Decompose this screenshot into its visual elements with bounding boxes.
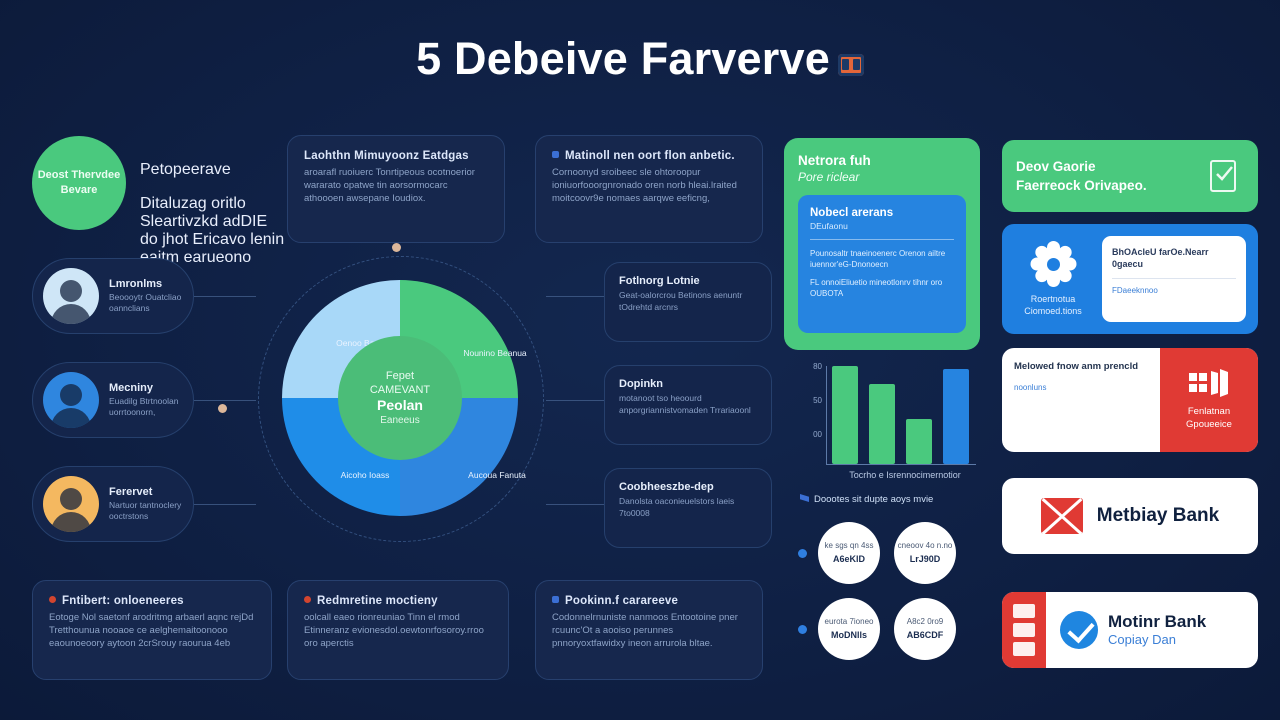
y-axis-tick-1: 50 bbox=[790, 396, 822, 405]
stat-badge[interactable]: cneoov 4o n.no LrJ90D bbox=[894, 522, 956, 584]
x-axis bbox=[826, 464, 976, 465]
stat-badge[interactable]: ke sgs qn 4ss A6eKlD bbox=[818, 522, 880, 584]
footer-card-1-body: Eotoge Nol saetonf arodritmg arbaerl aqn… bbox=[49, 611, 255, 650]
footer-card-3-body: Codonnelrnuniste nanmoos Entootoine pner… bbox=[552, 611, 746, 650]
inner-card-sub: DEufaonu bbox=[810, 221, 954, 231]
bus-badge-icon bbox=[838, 54, 864, 76]
footer-card-2-body: oolcall eaeo rionreuniao Tinn el rmod Et… bbox=[304, 611, 492, 650]
stats-heading: Doootes sit dupte aoys mvie bbox=[800, 494, 933, 505]
stat-badge[interactable]: eurota 7ioneo MoDNlls bbox=[818, 598, 880, 660]
person-card[interactable]: Lmronlms Beoooytr Ouatcliao oannclians bbox=[32, 258, 194, 334]
bullet-icon bbox=[49, 596, 56, 603]
person-card-body: Euadilg Btrtnoolan uorrtoonorn, bbox=[109, 396, 193, 418]
stat-label: MoDNlls bbox=[831, 629, 867, 641]
feature-card-inset-link[interactable]: FDaeeknnoo bbox=[1112, 286, 1236, 295]
info-card-top-2[interactable]: Matinoll nen oort flon anbetic. Cornoony… bbox=[535, 135, 763, 243]
donut-center-line-1: Fepet bbox=[386, 369, 414, 383]
connector-line bbox=[546, 504, 606, 505]
blue-check-circle-icon bbox=[1060, 611, 1098, 649]
bullet-icon bbox=[552, 596, 559, 603]
badge-heading: Petopeerave bbox=[140, 161, 285, 179]
donut-quadrant-label-br: Aucoua Fanuta bbox=[462, 470, 532, 481]
red-list-strip-icon bbox=[1002, 592, 1046, 668]
donut-center-line-4: Eaneeus bbox=[380, 414, 419, 428]
feature-card-icon-label: Roertnotua Ciomoed.tions bbox=[1014, 293, 1092, 317]
stat-badge[interactable]: A8c2 0ro9 AB6CDF bbox=[894, 598, 956, 660]
footer-card-3-heading-text: Pookinn.f carareeve bbox=[565, 595, 678, 607]
footer-card-1-heading-text: Fntibert: onloeneeres bbox=[62, 595, 184, 607]
avatar-head-icon bbox=[60, 488, 82, 510]
feature-card-inset[interactable]: BhOAcleU farOe.Nearr 0gaecu FDaeeknnoo bbox=[1102, 236, 1246, 322]
connector-line bbox=[194, 296, 256, 297]
infographic-canvas: 5 Debeive Farverve Deost Thervdee Bevare… bbox=[0, 0, 1280, 720]
y-axis-tick-2: 00 bbox=[790, 430, 822, 439]
y-axis bbox=[826, 366, 827, 464]
person-card-heading: Lmronlms bbox=[109, 278, 193, 290]
footer-card-3-heading: Pookinn.f carareeve bbox=[552, 595, 746, 607]
info-card-top-1[interactable]: Laohthn Mimuyoonz Eatdgas aroarafl ruoiu… bbox=[287, 135, 505, 243]
promo-banner-line-1: Deov Gaorie bbox=[1016, 157, 1147, 176]
highlight-panel-inner-card[interactable]: Nobecl arerans DEufaonu Pounosaltr tnaei… bbox=[798, 195, 966, 333]
footer-card-1[interactable]: Fntibert: onloeneeres Eotoge Nol saetonf… bbox=[32, 580, 272, 680]
stats-bullet-icon bbox=[798, 625, 807, 634]
split-card-left: Melowed fnow anm prencld noonluns bbox=[1002, 348, 1160, 452]
promo-banner[interactable]: Deov Gaorie Faerreock Orivapeo. bbox=[1002, 140, 1258, 212]
bar-series bbox=[832, 366, 978, 464]
person-card-heading: Ferervet bbox=[109, 486, 193, 498]
promo-banner-line-2: Faerreock Orivapeo. bbox=[1016, 176, 1147, 195]
connector-node bbox=[218, 404, 227, 413]
detail-card-3-heading: Coobheeszbe-dep bbox=[619, 481, 757, 493]
info-card-top-1-body: aroarafl ruoiuerc Tonrtipeous ocotnoerio… bbox=[304, 166, 488, 205]
split-card-link[interactable]: noonluns bbox=[1014, 383, 1148, 392]
bank-row-2-sub: Copiay Dan bbox=[1108, 632, 1206, 648]
avatar bbox=[43, 268, 99, 324]
detail-card-1-heading: Fotlnorg Lotnie bbox=[619, 275, 757, 287]
avatar bbox=[43, 476, 99, 532]
avatar-body-icon bbox=[51, 304, 91, 324]
bank-row-2-name: Motinr Bank bbox=[1108, 612, 1206, 632]
chart-caption: Tocrho e Isrennocimernotior bbox=[820, 470, 990, 480]
highlight-panel[interactable]: Netrora fuh Pore riclear Nobecl arerans … bbox=[784, 138, 980, 350]
donut-center-line-3: Peolan bbox=[377, 397, 423, 414]
bar-chart: 80 50 00 Tocrho e Isrennocimernotior bbox=[790, 362, 982, 488]
flower-gear-icon bbox=[1030, 241, 1076, 287]
detail-card-1-body: Geat-oalorcrou Betinons aenuntr tOdrehtd… bbox=[619, 290, 757, 313]
stats-bullet-icon bbox=[798, 549, 807, 558]
stat-value: A8c2 0ro9 bbox=[907, 617, 943, 627]
status-badge-label: Deost Thervdee Bevare bbox=[32, 168, 126, 198]
split-card-right-label: Fenlatnan Gpoueeice bbox=[1166, 405, 1252, 431]
detail-card-2-heading: Dopinkn bbox=[619, 378, 757, 390]
info-card-top-2-heading-text: Matinoll nen oort flon anbetic. bbox=[565, 150, 735, 162]
bar bbox=[869, 384, 895, 464]
bar bbox=[943, 369, 969, 464]
donut-quadrant-label-bl: Aicoho Ioass bbox=[330, 470, 400, 481]
detail-card-1[interactable]: Fotlnorg Lotnie Geat-oalorcrou Betinons … bbox=[604, 262, 772, 342]
bank-row-2[interactable]: Motinr Bank Copiay Dan bbox=[1002, 592, 1258, 668]
page-title: 5 Debeive Farverve bbox=[416, 33, 830, 85]
detail-card-2[interactable]: Dopinkn motanoot tso heoourd anporgriann… bbox=[604, 365, 772, 445]
avatar-body-icon bbox=[51, 408, 91, 428]
connector-line bbox=[194, 504, 256, 505]
avatar-body-icon bbox=[51, 512, 91, 532]
bullet-icon bbox=[552, 151, 559, 158]
stats-heading-text: Doootes sit dupte aoys mvie bbox=[814, 494, 933, 505]
footer-card-3[interactable]: Pookinn.f carareeve Codonnelrnuniste nan… bbox=[535, 580, 763, 680]
inner-card-line-1: Pounosaltr tnaeinoenerc Orenon ailtre iu… bbox=[810, 248, 954, 270]
donut-chart: Oenoo Bamoro Nounino Beanua Aicoho Ioass… bbox=[250, 248, 550, 548]
stat-label: AB6CDF bbox=[907, 629, 944, 641]
person-card-body: Beoooytr Ouatcliao oannclians bbox=[109, 292, 193, 314]
avatar-head-icon bbox=[60, 280, 82, 302]
connector-line bbox=[546, 400, 606, 401]
stat-label: LrJ90D bbox=[910, 553, 941, 565]
inner-card-heading: Nobecl arerans bbox=[810, 207, 954, 219]
info-card-top-2-body: Cornoonyd sroibeec sle ohtoroopur ioniuo… bbox=[552, 166, 746, 205]
footer-card-1-heading: Fntibert: onloeneeres bbox=[49, 595, 255, 607]
split-card-right[interactable]: Fenlatnan Gpoueeice bbox=[1160, 348, 1258, 452]
donut-quadrant-label-tr: Nounino Beanua bbox=[460, 348, 530, 359]
avatar-head-icon bbox=[60, 384, 82, 406]
highlight-panel-heading: Netrora fuh bbox=[798, 152, 966, 169]
status-badge: Deost Thervdee Bevare bbox=[32, 136, 126, 230]
connector-line bbox=[194, 400, 256, 401]
bullet-icon bbox=[304, 596, 311, 603]
stat-label: A6eKlD bbox=[833, 553, 865, 565]
y-axis-tick-0: 80 bbox=[790, 362, 822, 371]
person-card-body: Nartuor tantnoclery ooctrstons bbox=[109, 500, 193, 522]
divider bbox=[810, 239, 954, 240]
footer-card-2-heading-text: Redmretine moctieny bbox=[317, 595, 438, 607]
avatar bbox=[43, 372, 99, 428]
person-card[interactable]: Mecniny Euadilg Btrtnoolan uorrtoonorn, bbox=[32, 362, 194, 438]
info-card-top-1-heading: Laohthn Mimuyoonz Eatdgas bbox=[304, 150, 488, 162]
donut-center-line-2: CAMEVANT bbox=[370, 383, 430, 397]
bars-panel-icon bbox=[1187, 369, 1231, 399]
strip-glyph bbox=[1013, 642, 1035, 656]
bar bbox=[832, 366, 858, 464]
footer-card-2[interactable]: Redmretine moctieny oolcall eaeo rionreu… bbox=[287, 580, 509, 680]
bank-row-1-name: Metbiay Bank bbox=[1097, 505, 1219, 527]
split-card[interactable]: Melowed fnow anm prencld noonluns Fenlat… bbox=[1002, 348, 1258, 452]
red-x-square-icon bbox=[1041, 498, 1083, 534]
detail-card-3[interactable]: Coobheeszbe-dep Danolsta oaconieuelstors… bbox=[604, 468, 772, 548]
detail-card-3-body: Danolsta oaconieuelstors laeis 7to0008 bbox=[619, 496, 757, 519]
feature-card[interactable]: Roertnotua Ciomoed.tions BhOAcleU farOe.… bbox=[1002, 224, 1258, 334]
divider bbox=[1112, 278, 1236, 279]
detail-card-2-body: motanoot tso heoourd anporgriannistvomad… bbox=[619, 393, 757, 416]
feature-card-inset-heading: BhOAcleU farOe.Nearr 0gaecu bbox=[1112, 246, 1236, 270]
stat-value: cneoov 4o n.no bbox=[898, 541, 953, 551]
page-title-bar: 5 Debeive Farverve bbox=[0, 26, 1280, 92]
donut-segments: Oenoo Bamoro Nounino Beanua Aicoho Ioass… bbox=[282, 280, 518, 516]
highlight-panel-subheading: Pore riclear bbox=[798, 169, 966, 185]
stat-value: ke sgs qn 4ss bbox=[825, 541, 874, 551]
footer-card-2-heading: Redmretine moctieny bbox=[304, 595, 492, 607]
flag-icon bbox=[800, 494, 809, 502]
flower-hub bbox=[1047, 258, 1060, 271]
person-card[interactable]: Ferervet Nartuor tantnoclery ooctrstons bbox=[32, 466, 194, 542]
donut-center: Fepet CAMEVANT Peolan Eaneeus bbox=[338, 336, 462, 460]
connector-line bbox=[546, 296, 606, 297]
stats-grid: ke sgs qn 4ss A6eKlD cneoov 4o n.no LrJ9… bbox=[818, 522, 968, 672]
person-card-heading: Mecniny bbox=[109, 382, 193, 394]
split-card-heading: Melowed fnow anm prencld bbox=[1014, 360, 1148, 373]
info-card-top-2-heading: Matinoll nen oort flon anbetic. bbox=[552, 150, 746, 162]
bank-row-1[interactable]: Metbiay Bank bbox=[1002, 478, 1258, 554]
stat-value: eurota 7ioneo bbox=[825, 617, 874, 627]
inner-card-line-2: FL onnoiEliuetio mineotlonrv tihnr oro O… bbox=[810, 277, 954, 299]
bar bbox=[906, 419, 932, 464]
document-check-icon bbox=[1204, 156, 1244, 196]
strip-glyph bbox=[1013, 623, 1035, 637]
strip-glyph bbox=[1013, 604, 1035, 618]
